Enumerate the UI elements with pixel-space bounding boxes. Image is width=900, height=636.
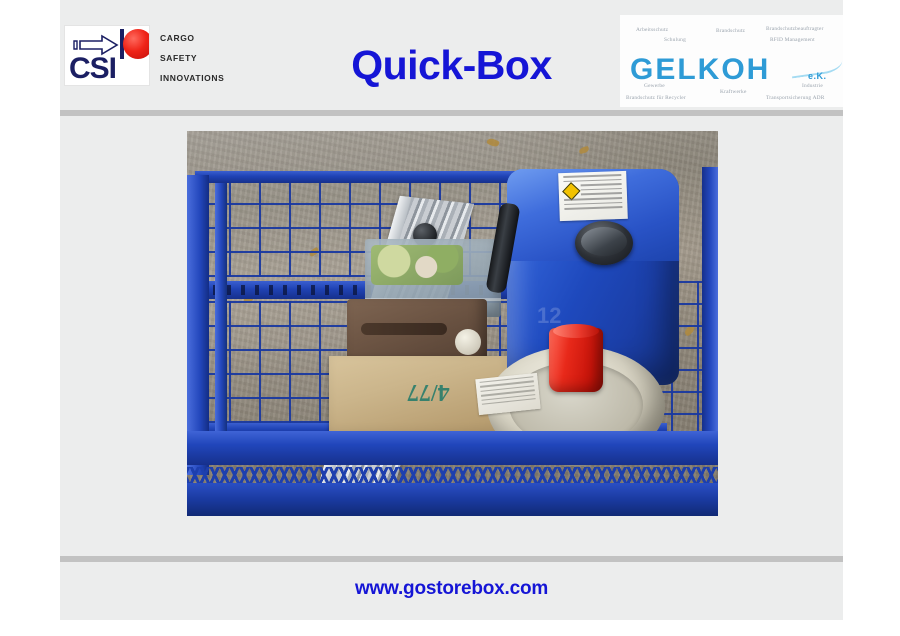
cage-upright [215, 183, 227, 441]
cage-post-left [187, 175, 209, 475]
footer-divider [60, 556, 843, 562]
gelkoh-keyword-transportsicherung: Transportsicherung ADR [766, 95, 825, 101]
cage-front-rail-lower [187, 483, 718, 516]
cage-front-rail-upper [187, 431, 718, 465]
gelkoh-keyword-arbeitsschutz: Arbeitsschutz [636, 27, 668, 33]
product-photo: 4/77 12 [187, 131, 718, 516]
jerrycan-cap [575, 221, 633, 265]
gelkoh-logo: Arbeitsschutz Schulung Brandschutz Brand… [620, 15, 843, 107]
hazard-label [558, 171, 628, 221]
gelkoh-keyword-gewerbe: Gewerbe [644, 83, 665, 89]
header-divider [60, 110, 843, 116]
gelkoh-keyword-brandschutz: Brandschutz [716, 28, 745, 34]
presentation-slide: CSI CARGO SAFETY INNOVATIONS Quick-Box A… [60, 0, 843, 620]
cardboard-box-marking: 4/77 [407, 378, 450, 405]
drum-red-cap [549, 328, 603, 392]
gelkoh-suffix: e.K. [808, 71, 827, 81]
gelkoh-keyword-schulung: Schulung [664, 37, 686, 43]
jerrycan-embossing: 12 [537, 303, 561, 329]
cage-post-right [702, 167, 718, 457]
box-contents [371, 245, 463, 285]
gelkoh-keyword-rfid-management: RFID Management [770, 37, 815, 43]
footer-url[interactable]: www.gostorebox.com [60, 578, 843, 600]
cage-front-mesh [187, 467, 718, 483]
gelkoh-keyword-industrie: Industrie [802, 83, 823, 89]
gelkoh-keyword-brandschutzbeauftragter: Brandschutzbeauftragter [766, 26, 824, 32]
gelkoh-wordmark: GELKOH [630, 53, 770, 87]
brown-container-cap [455, 329, 481, 355]
drum-label [475, 373, 540, 415]
gelkoh-keyword-kraftwerke: Kraftwerke [720, 89, 747, 95]
gelkoh-keyword-brandschutz-recycler: Brandschutz für Recycler [626, 95, 686, 101]
